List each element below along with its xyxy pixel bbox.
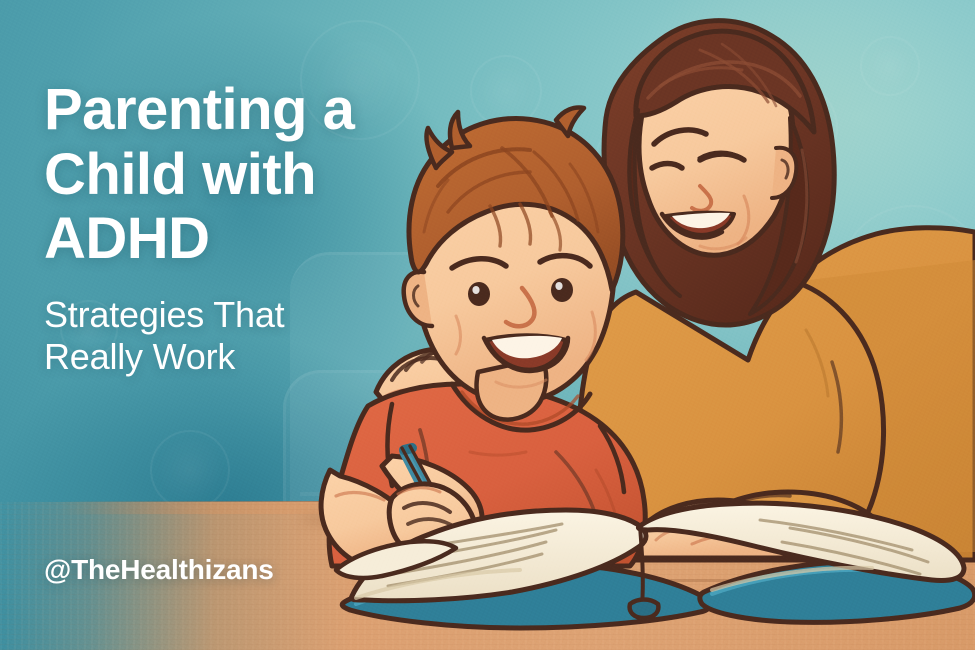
social-media-poster: Parenting a Child with ADHD Strategies T…: [0, 0, 975, 650]
social-handle: @TheHealthizans: [44, 554, 274, 586]
page-title: Parenting a Child with ADHD: [44, 78, 424, 272]
headline-block: Parenting a Child with ADHD Strategies T…: [44, 78, 424, 379]
page-subtitle: Strategies That Really Work: [44, 294, 424, 379]
